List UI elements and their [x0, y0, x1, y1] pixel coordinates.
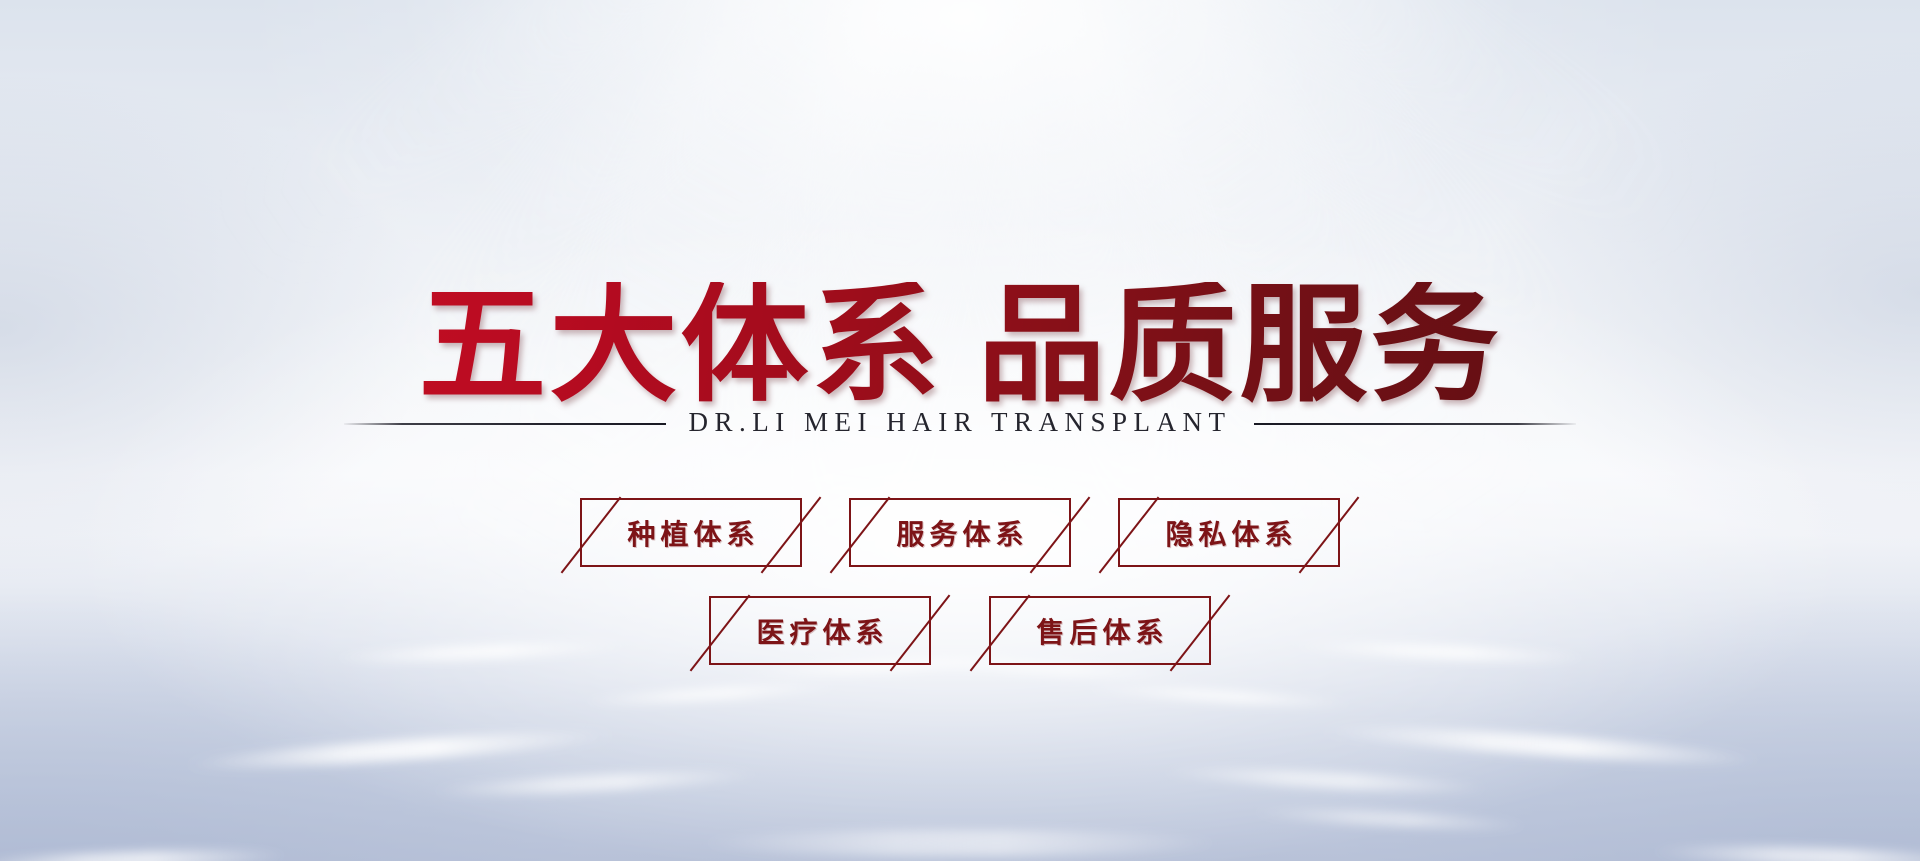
slash-decoration-right	[761, 497, 822, 574]
tag-yiliao-system[interactable]: 医疗体系	[709, 596, 931, 665]
banner-content: 五大体系 品质服务 DR.LI MEI HAIR TRANSPLANT 种植体系…	[0, 0, 1920, 861]
slash-decoration-left	[561, 497, 622, 574]
tag-label: 种植体系	[622, 513, 759, 553]
slash-decoration-right	[1170, 595, 1231, 672]
slash-decoration-right	[1299, 497, 1360, 574]
slash-decoration-left	[690, 595, 751, 672]
tag-shouhou-system[interactable]: 售后体系	[989, 596, 1211, 665]
tag-label: 服务体系	[891, 513, 1028, 553]
tag-fuwu-system[interactable]: 服务体系	[849, 498, 1071, 567]
title-block: 五大体系 品质服务	[0, 196, 1920, 496]
tag-row-2: 医疗体系 售后体系	[0, 596, 1920, 665]
subtitle-rule-right	[1254, 423, 1576, 425]
tag-row-1: 种植体系 服务体系 隐私体系	[0, 498, 1920, 567]
tag-yinsi-system[interactable]: 隐私体系	[1118, 498, 1340, 567]
banner-canvas: 五大体系 品质服务 DR.LI MEI HAIR TRANSPLANT 种植体系…	[0, 0, 1920, 861]
slash-decoration-left	[970, 595, 1031, 672]
slash-decoration-left	[830, 497, 891, 574]
tag-group: 种植体系 服务体系 隐私体系 医疗体系	[0, 498, 1920, 665]
slash-decoration-left	[1099, 497, 1160, 574]
page-title: 五大体系 品质服务	[418, 282, 1501, 410]
subtitle-rule-left	[344, 423, 666, 425]
slash-decoration-right	[890, 595, 951, 672]
subtitle-text: DR.LI MEI HAIR TRANSPLANT	[688, 407, 1231, 438]
tag-zhongzhi-system[interactable]: 种植体系	[580, 498, 802, 567]
tag-label: 隐私体系	[1160, 513, 1297, 553]
subtitle-block: DR.LI MEI HAIR TRANSPLANT	[0, 408, 1920, 439]
tag-label: 售后体系	[1031, 611, 1168, 651]
tag-label: 医疗体系	[751, 611, 888, 651]
slash-decoration-right	[1030, 497, 1091, 574]
